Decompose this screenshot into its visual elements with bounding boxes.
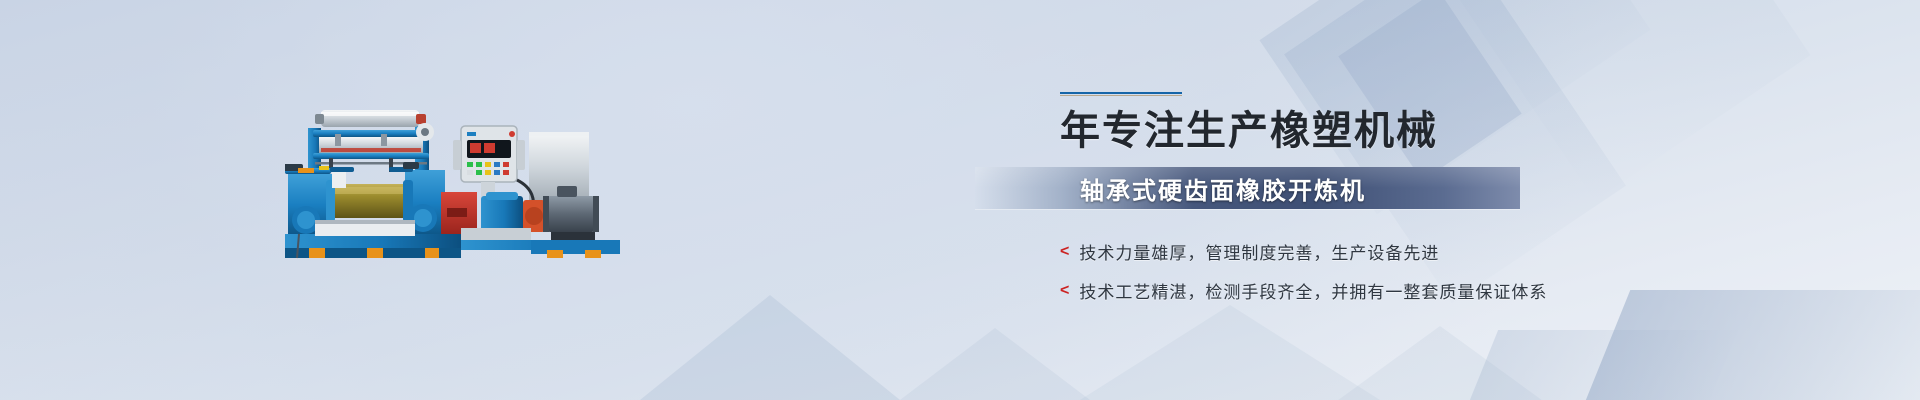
- chevron-left-icon: <: [1060, 244, 1069, 260]
- product-name-text: 轴承式硬齿面橡胶开炼机: [1080, 171, 1366, 206]
- headline-rule: [1060, 92, 1182, 97]
- rule-tan-line: [1060, 95, 1182, 96]
- feature-text: 技术工艺精湛，检测手段齐全，并拥有一整套质量保证体系: [1079, 278, 1547, 303]
- list-item: < 技术工艺精湛，检测手段齐全，并拥有一整套质量保证体系: [1060, 278, 1755, 303]
- page-title: 年专注生产橡塑机械: [1060, 109, 1755, 153]
- decor-triangle-4: [1330, 326, 1550, 400]
- banner-content: 年专注生产橡塑机械 轴承式硬齿面橡胶开炼机 < 技术力量雄厚，管理制度完善，生产…: [1055, 92, 1755, 317]
- list-item: < 技术力量雄厚，管理制度完善，生产设备先进: [1060, 239, 1755, 264]
- product-machine-image: [285, 96, 620, 262]
- decor-shape-bottom-right-2: [1462, 330, 1738, 400]
- chevron-left-icon: <: [1060, 283, 1069, 299]
- rule-blue-line: [1060, 92, 1182, 94]
- feature-list: < 技术力量雄厚，管理制度完善，生产设备先进 < 技术工艺精湛，检测手段齐全，并…: [1060, 239, 1755, 303]
- promo-banner: 年专注生产橡塑机械 轴承式硬齿面橡胶开炼机 < 技术力量雄厚，管理制度完善，生产…: [0, 0, 1920, 400]
- decor-triangle-2: [900, 328, 1090, 400]
- product-name-band: 轴承式硬齿面橡胶开炼机: [975, 167, 1520, 209]
- feature-text: 技术力量雄厚，管理制度完善，生产设备先进: [1079, 239, 1439, 264]
- decor-triangle-3: [1080, 305, 1380, 400]
- decor-triangle-1: [640, 295, 900, 400]
